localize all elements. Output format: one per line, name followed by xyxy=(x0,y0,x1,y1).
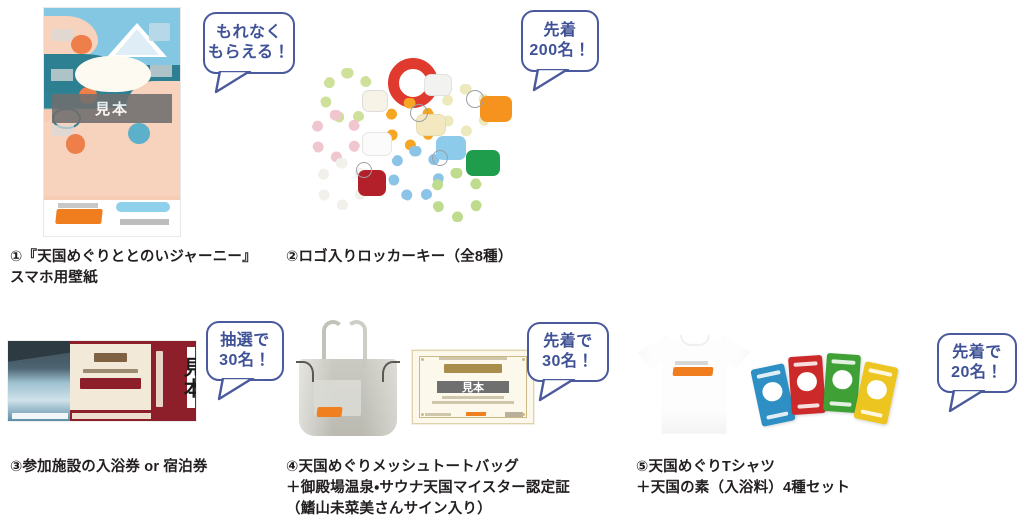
ticket-photo-panel xyxy=(8,341,70,421)
ticket-sample-watermark: 見本 xyxy=(187,347,195,408)
item-4-certificate-image: 見本 xyxy=(412,350,534,424)
item-4-caption: ④天国めぐりメッシュトートバッグ＋御殿場温泉・サウナ天国マイスター認定証（鰭山未… xyxy=(286,457,570,520)
locker-key-tag-white xyxy=(362,132,392,156)
split-ring-1 xyxy=(410,104,428,122)
ticket-title-text xyxy=(80,378,141,389)
certificate-body-line-1 xyxy=(442,396,504,399)
locker-key-tag-orange xyxy=(480,96,512,122)
item-4-bubble: 先着で 30名！ xyxy=(527,322,609,382)
bubble-tail-icon xyxy=(532,67,572,91)
ticket-footer-note xyxy=(72,413,151,419)
item-5-caption: ⑤天国めぐりTシャツ＋天国の素（入浴料）4種セット xyxy=(636,457,850,499)
packet-header-label xyxy=(869,368,893,377)
item-5-bubble-line-2: 20名！ xyxy=(951,363,1003,383)
locker-key-tag-silver xyxy=(424,74,452,96)
packet-illustration xyxy=(832,369,853,390)
item-3-caption: ③参加施設の入浴券 or 宿泊券 xyxy=(10,457,208,478)
item-2-bubble-line-1: 先着 xyxy=(543,21,576,41)
certificate-signature-line xyxy=(425,413,451,416)
bath-salt-packet-yellow xyxy=(853,361,898,425)
item-1-bubble-line-1: もれなく xyxy=(216,23,282,43)
item-5-bubble: 先着で 20名！ xyxy=(937,333,1017,393)
ticket-brand-mark xyxy=(94,353,126,362)
poster-step-label-1 xyxy=(52,29,74,40)
item-2-caption: ②ロゴ入りロッカーキー（全8種） xyxy=(286,247,513,268)
item-4-caption-line-3: （鰭山未菜美さんサイン入り） xyxy=(286,501,492,517)
item-5-bath-salt-packets-image xyxy=(756,350,906,428)
item-2-caption-line-1: ②ロゴ入りロッカーキー（全8種） xyxy=(286,249,513,265)
locker-key-tag-cream xyxy=(362,90,388,112)
certificate-issuer-line xyxy=(505,412,523,416)
item-5-caption-line-1: ⑤天国めぐりTシャツ xyxy=(636,459,775,475)
item-5-bubble-line-1: 先着で xyxy=(952,343,1002,363)
split-ring-3 xyxy=(432,150,448,166)
certificate-brand-logo xyxy=(466,412,487,416)
poster-title-plate xyxy=(75,56,151,92)
split-ring-2 xyxy=(466,90,484,108)
certificate-sample-text: 見本 xyxy=(462,379,484,395)
item-1-caption-line-2: スマホ用壁紙 xyxy=(10,270,98,286)
item-3-caption-line-1: ③参加施設の入浴券 or 宿泊券 xyxy=(10,459,208,475)
ticket-cream-panel xyxy=(70,344,151,410)
item-1-caption: ①『天国めぐりととのいジャーニー』スマホ用壁紙 xyxy=(10,247,257,289)
certificate-sample-watermark: 見本 xyxy=(437,381,509,393)
item-2-locker-keys-image xyxy=(300,58,530,228)
tote-side-strap-right xyxy=(382,361,400,382)
poster-logo-top-text xyxy=(58,203,99,208)
item-1-bubble-line-2: もらえる！ xyxy=(208,43,290,63)
tshirt-body xyxy=(638,336,750,433)
poster-sample-watermark: 見本 xyxy=(52,94,172,123)
packet-header-label xyxy=(794,361,817,367)
packet-header-label xyxy=(832,359,855,365)
certificate-corner-dot-tr xyxy=(522,358,525,361)
poster-brand-logo xyxy=(55,209,103,224)
certificate-body-line-2 xyxy=(432,401,514,404)
poster-date-text xyxy=(120,219,169,225)
packet-name-label xyxy=(830,401,852,407)
bather-figure-1 xyxy=(71,35,91,54)
packet-illustration xyxy=(796,371,817,392)
poster-artwork: 見本 xyxy=(44,8,180,200)
poster-badge xyxy=(116,202,170,212)
item-4-tote-bag-image xyxy=(292,318,404,438)
bubble-tail-icon xyxy=(217,376,257,400)
bather-figure-5 xyxy=(66,134,85,153)
item-3-bubble: 抽選で 30名！ xyxy=(206,321,284,381)
bath-salt-packet-red xyxy=(788,355,826,415)
novelty-items-board: 見本 もれなく もらえる！ ①『天国めぐりととのいジャーニー』スマホ用壁紙 xyxy=(0,0,1024,520)
locker-key-tag-green xyxy=(466,150,500,176)
bubble-tail-icon xyxy=(948,388,988,412)
tshirt-logo-top-text xyxy=(675,361,708,364)
ticket-small-text xyxy=(83,369,138,373)
ticket-roof-shape xyxy=(8,341,70,362)
bather-figure-4 xyxy=(128,123,150,144)
ticket-sample-text: 見本 xyxy=(181,357,196,399)
certificate-title-text xyxy=(444,364,502,373)
packet-name-label xyxy=(861,409,883,417)
packet-illustration xyxy=(865,378,888,401)
item-3-bubble-line-2: 30名！ xyxy=(219,351,271,371)
poster-step-label-3 xyxy=(51,69,73,80)
item-4-caption-line-2: ＋御殿場温泉・サウナ天国マイスター認定証 xyxy=(286,480,570,496)
item-1-wallpaper-image: 見本 xyxy=(44,8,180,236)
locker-key-coil-pink xyxy=(310,110,362,162)
split-ring-4 xyxy=(356,162,372,178)
packet-illustration xyxy=(761,380,784,403)
item-4-bubble-line-1: 先着で xyxy=(543,332,593,352)
poster-step-label-2 xyxy=(150,65,172,76)
item-3-ticket-image: 見本 xyxy=(8,341,196,421)
tote-brand-logo xyxy=(316,407,342,417)
item-4-caption-line-1: ④天国めぐりメッシュトートバッグ xyxy=(286,459,519,475)
certificate-corner-dot-br xyxy=(522,413,525,416)
ticket-side-text xyxy=(156,351,162,407)
item-1-bubble: もれなく もらえる！ xyxy=(203,12,295,74)
certificate-header-text xyxy=(439,357,506,360)
item-1-caption-line-1: ①『天国めぐりととのいジャーニー』 xyxy=(10,249,257,265)
packet-header-label xyxy=(757,370,781,379)
item-4-bubble-line-2: 30名！ xyxy=(542,352,594,372)
tshirt-brand-logo xyxy=(673,367,714,376)
item-5-tshirt-image xyxy=(638,330,748,438)
item-5-caption-line-2: ＋天国の素（入浴料）4種セット xyxy=(636,480,850,496)
item-3-bubble-line-1: 抽選で xyxy=(220,331,270,351)
item-2-bubble: 先着 200名！ xyxy=(521,10,599,72)
ticket-red-panel: 見本 xyxy=(151,341,196,421)
item-2-bubble-line-2: 200名！ xyxy=(529,41,590,61)
ticket-footer-logo xyxy=(12,413,68,419)
bubble-tail-icon xyxy=(214,69,254,93)
poster-corner-mark xyxy=(149,23,171,40)
bubble-tail-icon xyxy=(538,377,578,401)
locker-key-coil-lime xyxy=(430,168,484,222)
packet-name-label xyxy=(766,411,788,419)
packet-name-label xyxy=(797,403,819,409)
